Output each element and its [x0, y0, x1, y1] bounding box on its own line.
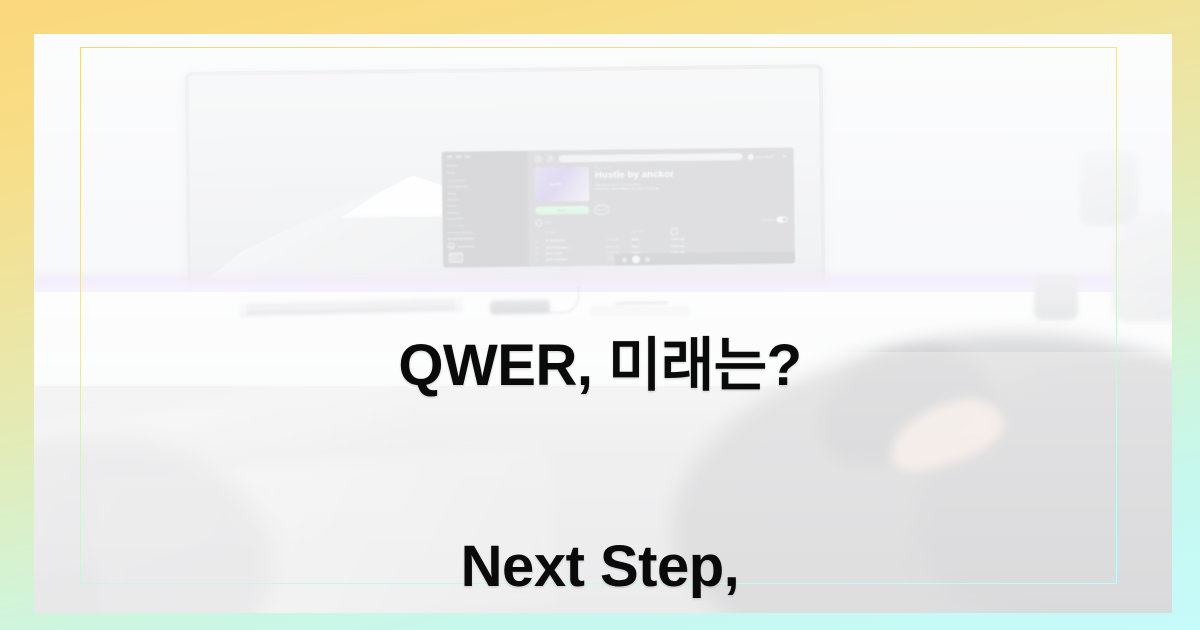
chair	[1112, 212, 1172, 322]
row-title: Uber Everywhere ...	[546, 246, 604, 250]
sidebar-item-discover-weekly[interactable]: Discover Weekly	[448, 229, 524, 234]
sidebar-item-browse[interactable]: Browse	[447, 163, 523, 168]
sidebar-item-local-files[interactable]: Local Files	[447, 216, 523, 221]
filter-label: Filter	[545, 221, 551, 224]
music-player-bar	[615, 251, 795, 265]
col-artist: ARTIST	[632, 230, 668, 233]
back-icon[interactable]	[535, 156, 542, 163]
poster-canvas: Browse Radio YOUR MUSIC Your Daily Mix S…	[0, 0, 1200, 630]
more-options-icon[interactable]	[594, 205, 609, 215]
row-plays: 1,402,200	[607, 239, 629, 242]
sidebar-nav: Browse Radio	[447, 163, 523, 174]
cup	[1034, 276, 1078, 320]
playlist-info: PLAYLIST Hustle by anckor Tight bass to …	[595, 165, 787, 201]
dot	[604, 209, 605, 210]
playlist-hero: Hustle PLAYLIST Hustle by anckor Tight b…	[528, 159, 794, 201]
row-plays: 8,201,774	[607, 245, 629, 248]
sidebar-item-albums[interactable]: Albums	[447, 197, 523, 202]
sidebar-playlists-group: Discover Weekly Hustle by anckor	[448, 229, 524, 240]
sidebar-item-songs[interactable]: Songs	[447, 190, 523, 195]
play-icon[interactable]	[632, 255, 640, 263]
plus-circle-icon	[448, 243, 455, 250]
mouse	[490, 299, 550, 314]
playlist-meta: Created by: Julian Ofiapon • 41 songs, 3…	[595, 186, 787, 191]
row-added: 3 days ago	[671, 245, 705, 248]
download-toggle[interactable]	[776, 217, 787, 223]
keyboard-key-rows	[247, 299, 455, 314]
avatar	[747, 153, 753, 159]
user-name: Julian Ofiapon	[756, 154, 774, 158]
playlist-title: Hustle by anckor	[595, 169, 787, 182]
row-mark[interactable]: ✓	[536, 239, 543, 243]
sidebar-your-music-group: Your Daily Mix Songs Albums Artists Stat…	[447, 184, 523, 221]
download-label: Download	[762, 218, 774, 221]
music-app-sidebar: Browse Radio YOUR MUSIC Your Daily Mix S…	[442, 151, 529, 268]
chevron-down-icon[interactable]	[783, 155, 787, 157]
window-control-dot[interactable]	[465, 155, 471, 157]
play-button[interactable]: PLAY	[535, 206, 589, 215]
dot	[599, 209, 600, 210]
window-controls[interactable]	[447, 155, 523, 158]
playlist-cover-art: Hustle	[535, 167, 589, 202]
previous-icon[interactable]	[622, 257, 627, 262]
photo-scene: Browse Radio YOUR MUSIC Your Daily Mix S…	[34, 34, 1172, 613]
notebook	[590, 306, 690, 316]
row-mark[interactable]: +	[536, 253, 543, 256]
new-playlist-button[interactable]: New Playlist	[448, 242, 524, 250]
music-app-main: Julian Ofiapon Hustle PLAYLIST	[528, 147, 795, 266]
row-title: Do Not Disturb	[546, 239, 604, 243]
sidebar-item-artists[interactable]: Artists	[447, 203, 523, 208]
sidebar-item-hustle-by-anckor[interactable]: Hustle by anckor	[448, 236, 524, 241]
sidebar-item-radio[interactable]: Radio	[447, 170, 523, 175]
now-playing-thumbnail[interactable]	[449, 253, 463, 263]
clock-icon	[671, 228, 678, 235]
sidebar-item-your-daily-mix[interactable]: Your Daily Mix	[447, 184, 523, 189]
window-control-dot[interactable]	[456, 156, 462, 158]
sidebar-section-your-music: YOUR MUSIC	[447, 179, 523, 183]
row-mark[interactable]: +	[536, 247, 543, 250]
forward-icon[interactable]	[547, 155, 554, 162]
row-added: 3 days ago	[671, 238, 705, 241]
cover-art-title: Hustle	[549, 181, 562, 187]
row-artist: Drake	[632, 238, 668, 241]
next-icon[interactable]	[645, 257, 650, 262]
row-artist: Made...	[632, 245, 668, 248]
music-app-window: Browse Radio YOUR MUSIC Your Daily Mix S…	[442, 147, 795, 267]
row-title: Nervy Family	[546, 252, 604, 256]
row-mark[interactable]: +	[536, 259, 543, 262]
row-title: gnrnn Alled Beat	[546, 258, 604, 262]
user-menu[interactable]: Julian Ofiapon	[747, 153, 773, 159]
sidebar-item-stations[interactable]: Stations	[447, 210, 523, 215]
monitor-bezel: Browse Radio YOUR MUSIC Your Daily Mix S…	[189, 68, 822, 292]
plant-pot	[1080, 152, 1138, 226]
background-photo: Browse Radio YOUR MUSIC Your Daily Mix S…	[34, 34, 1172, 613]
sidebar-section-playlists: PLAYLISTS	[448, 224, 524, 228]
col-title: TITLE	[546, 231, 604, 235]
new-playlist-label: New Playlist	[457, 244, 474, 248]
dot	[601, 209, 602, 210]
ultrawide-monitor: Browse Radio YOUR MUSIC Your Daily Mix S…	[185, 64, 826, 296]
filter-button[interactable]: Filter	[535, 219, 551, 226]
filter-icon	[535, 219, 542, 226]
window-control-dot[interactable]	[447, 156, 453, 158]
download-toggle-group[interactable]: Download	[762, 217, 788, 223]
